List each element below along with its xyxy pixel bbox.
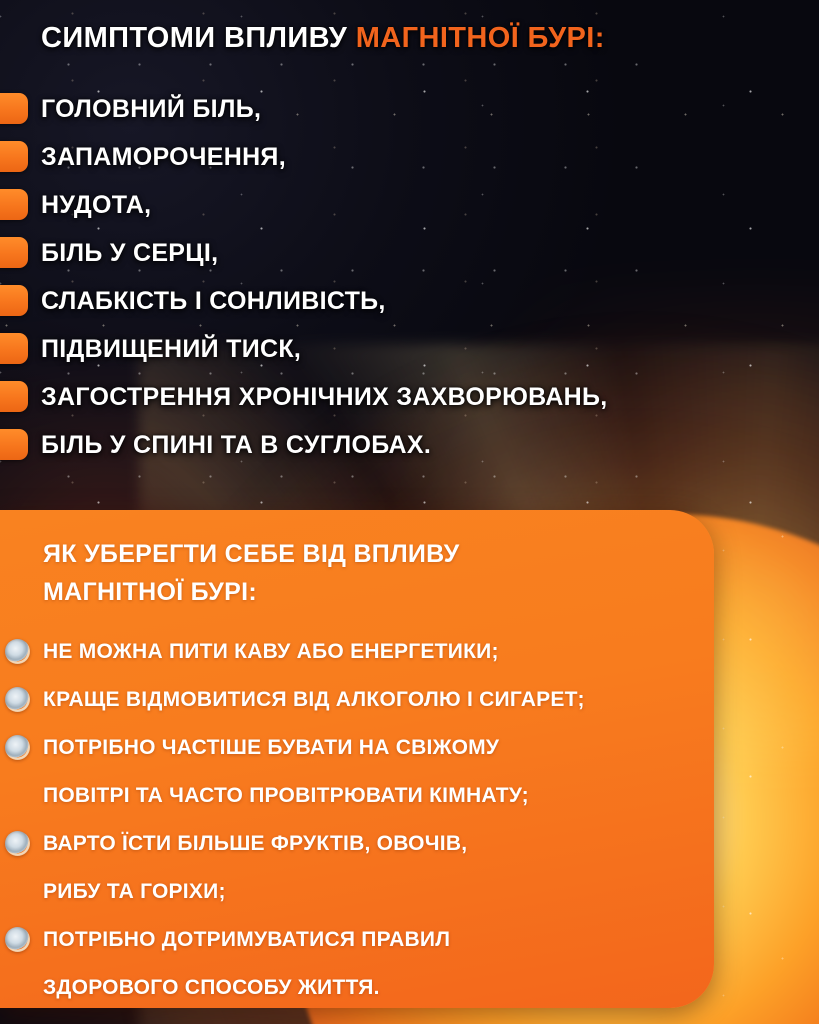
circle-ring-bullet-icon [5,687,30,712]
page-title-plain: СИМПТОМИ ВПЛИВУ [41,22,347,54]
advice-list-item: КРАЩЕ ВІДМОВИТИСЯ ВІД АЛКОГОЛЮ І СИГАРЕТ… [0,676,714,724]
orange-tab-marker-icon [0,189,28,220]
advice-list-item: ПОВІТРІ ТА ЧАСТО ПРОВІТРЮВАТИ КІМНАТУ; [0,772,714,820]
advice-label: КРАЩЕ ВІДМОВИТИСЯ ВІД АЛКОГОЛЮ І СИГАРЕТ… [43,688,585,712]
circle-ring-bullet-icon [5,639,30,664]
symptom-label: ГОЛОВНИЙ БІЛЬ, [41,95,261,124]
circle-ring-bullet-icon [5,927,30,952]
advice-label: ПОВІТРІ ТА ЧАСТО ПРОВІТРЮВАТИ КІМНАТУ; [43,784,529,808]
circle-ring-bullet-icon [5,735,30,760]
symptom-label: БІЛЬ У СПИНІ ТА В СУГЛОБАХ. [41,431,431,460]
infographic-poster: СИМПТОМИ ВПЛИВУ МАГНІТНОЇ БУРІ: ГОЛОВНИЙ… [0,0,819,1024]
symptom-label: ЗАПАМОРОЧЕННЯ, [41,143,286,172]
advice-panel: ЯК УБЕРЕГТИ СЕБЕ ВІД ВПЛИВУ МАГНІТНОЇ БУ… [0,510,714,1008]
page-title-accent: МАГНІТНОЇ БУРІ: [356,22,605,54]
advice-label: ПОТРІБНО ЧАСТІШЕ БУВАТИ НА СВІЖОМУ [43,736,499,760]
advice-list-item: ЗДОРОВОГО СПОСОБУ ЖИТТЯ. [0,964,714,1008]
advice-title-line-2: МАГНІТНОЇ БУРІ: [43,573,459,611]
advice-list-item: ПОТРІБНО ЧАСТІШЕ БУВАТИ НА СВІЖОМУ [0,724,714,772]
symptom-list-item: ГОЛОВНИЙ БІЛЬ, [0,85,819,133]
advice-label: НЕ МОЖНА ПИТИ КАВУ АБО ЕНЕРГЕТИКИ; [43,640,499,664]
symptom-label: СЛАБКІСТЬ І СОНЛИВІСТЬ, [41,287,386,316]
symptom-list-item: ПІДВИЩЕНИЙ ТИСК, [0,325,819,373]
symptom-list-item: НУДОТА, [0,181,819,229]
advice-list-item: НЕ МОЖНА ПИТИ КАВУ АБО ЕНЕРГЕТИКИ; [0,628,714,676]
advice-label: ЗДОРОВОГО СПОСОБУ ЖИТТЯ. [43,976,380,1000]
symptom-label: БІЛЬ У СЕРЦІ, [41,239,218,268]
orange-tab-marker-icon [0,429,28,460]
poster-content: СИМПТОМИ ВПЛИВУ МАГНІТНОЇ БУРІ: ГОЛОВНИЙ… [0,0,819,1024]
orange-tab-marker-icon [0,93,28,124]
orange-tab-marker-icon [0,237,28,268]
circle-ring-bullet-icon [5,831,30,856]
orange-tab-marker-icon [0,285,28,316]
symptom-list-item: СЛАБКІСТЬ І СОНЛИВІСТЬ, [0,277,819,325]
advice-title-line-1: ЯК УБЕРЕГТИ СЕБЕ ВІД ВПЛИВУ [43,535,459,573]
advice-list-item: ПОТРІБНО ДОТРИМУВАТИСЯ ПРАВИЛ [0,916,714,964]
symptom-label: НУДОТА, [41,191,151,220]
symptom-list-item: ЗАГОСТРЕННЯ ХРОНІЧНИХ ЗАХВОРЮВАНЬ, [0,373,819,421]
page-title: СИМПТОМИ ВПЛИВУ МАГНІТНОЇ БУРІ: [41,22,605,55]
advice-list-item: ВАРТО ЇСТИ БІЛЬШЕ ФРУКТІВ, ОВОЧІВ, [0,820,714,868]
symptom-list-item: ЗАПАМОРОЧЕННЯ, [0,133,819,181]
advice-label: РИБУ ТА ГОРІХИ; [43,880,226,904]
orange-tab-marker-icon [0,381,28,412]
orange-tab-marker-icon [0,141,28,172]
advice-list-item: РИБУ ТА ГОРІХИ; [0,868,714,916]
advice-label: ВАРТО ЇСТИ БІЛЬШЕ ФРУКТІВ, ОВОЧІВ, [43,832,467,856]
advice-list: НЕ МОЖНА ПИТИ КАВУ АБО ЕНЕРГЕТИКИ;КРАЩЕ … [0,628,714,1008]
symptom-label: ПІДВИЩЕНИЙ ТИСК, [41,335,301,364]
symptom-list-item: БІЛЬ У СЕРЦІ, [0,229,819,277]
orange-tab-marker-icon [0,333,28,364]
symptom-list-item: БІЛЬ У СПИНІ ТА В СУГЛОБАХ. [0,421,819,469]
symptom-label: ЗАГОСТРЕННЯ ХРОНІЧНИХ ЗАХВОРЮВАНЬ, [41,383,608,412]
symptom-list: ГОЛОВНИЙ БІЛЬ,ЗАПАМОРОЧЕННЯ,НУДОТА,БІЛЬ … [0,85,819,469]
advice-label: ПОТРІБНО ДОТРИМУВАТИСЯ ПРАВИЛ [43,928,450,952]
advice-panel-title: ЯК УБЕРЕГТИ СЕБЕ ВІД ВПЛИВУ МАГНІТНОЇ БУ… [43,535,459,611]
